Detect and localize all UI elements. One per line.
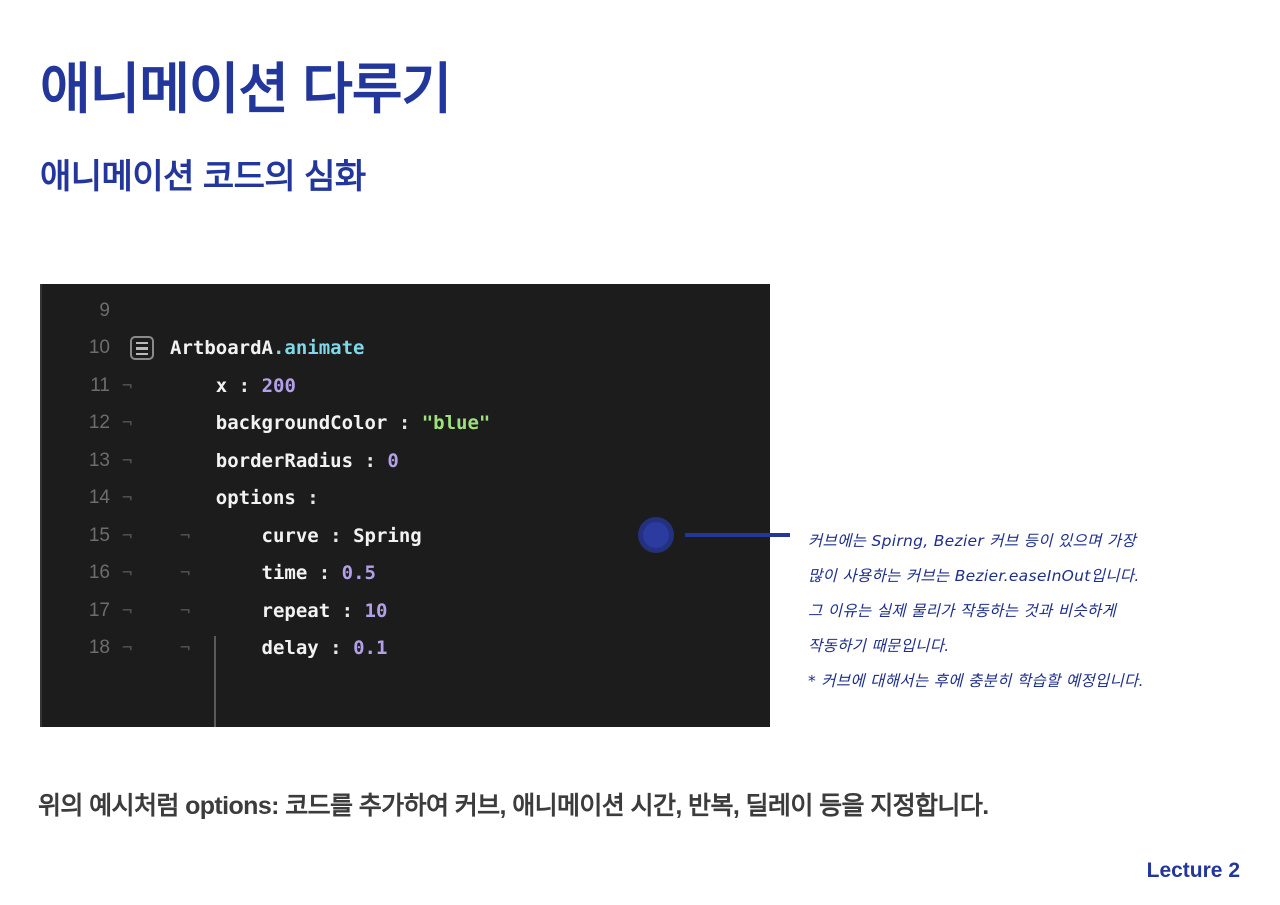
line-number: 10 bbox=[42, 337, 122, 359]
code-token-value: 0.5 bbox=[342, 562, 376, 584]
code-token-key: borderRadius bbox=[216, 450, 353, 472]
code-line: 16 ¬ ¬ time : 0.5 bbox=[42, 555, 770, 593]
indent-guide-icon: ¬ bbox=[122, 451, 132, 471]
code-token-colon: : bbox=[399, 412, 410, 434]
marker-column: ¬ ¬ bbox=[122, 592, 170, 630]
line-number: 11 bbox=[42, 375, 122, 397]
code-token-value: 200 bbox=[262, 375, 296, 397]
line-number: 17 bbox=[42, 600, 122, 622]
indent-guide-icon: ¬ bbox=[122, 601, 132, 621]
indent-guide-icon: ¬ bbox=[122, 376, 132, 396]
code-line-content: time : 0.5 bbox=[170, 562, 376, 584]
code-token-colon: : bbox=[239, 375, 250, 397]
code-line-content: repeat : 10 bbox=[170, 600, 387, 622]
code-line-content: curve : Spring bbox=[170, 525, 422, 547]
callout-anchor-dot[interactable] bbox=[638, 517, 674, 553]
code-token-key: backgroundColor bbox=[216, 412, 388, 434]
code-token-value: 0 bbox=[387, 450, 398, 472]
annotation-line: 작동하기 때문입니다. bbox=[808, 629, 1248, 664]
code-editor-panel: 9 10 ArtboardA.animate 11 ¬ bbox=[40, 284, 770, 727]
code-line: 9 bbox=[42, 292, 770, 330]
code-line-content: borderRadius : 0 bbox=[170, 450, 399, 472]
annotation-line: 그 이유는 실제 물리가 작동하는 것과 비슷하게 bbox=[808, 594, 1248, 629]
code-line: 11 ¬ x : 200 bbox=[42, 367, 770, 405]
page-title: 애니메이션 다루기 bbox=[40, 62, 451, 117]
code-token-method: animate bbox=[284, 337, 364, 359]
marker-column: ¬ ¬ bbox=[122, 555, 170, 593]
code-block-guide-line bbox=[214, 636, 216, 727]
code-lines: 9 10 ArtboardA.animate 11 ¬ bbox=[42, 284, 770, 667]
code-token-colon: : bbox=[307, 487, 318, 509]
annotation-line: * 커브에 대해서는 후에 충분히 학습할 예정입니다. bbox=[808, 664, 1248, 699]
code-line: 18 ¬ ¬ delay : 0.1 bbox=[42, 630, 770, 668]
indent-guide-icon: ¬ bbox=[122, 526, 132, 546]
marker-column bbox=[122, 292, 170, 330]
code-token-key: time bbox=[262, 562, 308, 584]
code-line: 12 ¬ backgroundColor : "blue" bbox=[42, 405, 770, 443]
code-block-marker-icon[interactable] bbox=[130, 336, 154, 360]
marker-column: ¬ bbox=[122, 442, 170, 480]
code-line: 13 ¬ borderRadius : 0 bbox=[42, 442, 770, 480]
line-number: 13 bbox=[42, 450, 122, 472]
annotation-line: 많이 사용하는 커브는 Bezier.easeInOut입니다. bbox=[808, 559, 1248, 594]
code-line-content: options : bbox=[170, 487, 319, 509]
code-token-colon: : bbox=[330, 525, 341, 547]
line-number: 15 bbox=[42, 525, 122, 547]
marker-column: ¬ ¬ bbox=[122, 630, 170, 668]
line-number: 18 bbox=[42, 637, 122, 659]
code-token-object: ArtboardA bbox=[170, 337, 273, 359]
code-token-colon: : bbox=[330, 637, 341, 659]
marker-column bbox=[122, 330, 170, 368]
marker-column: ¬ bbox=[122, 405, 170, 443]
line-number: 14 bbox=[42, 487, 122, 509]
code-line-content: backgroundColor : "blue" bbox=[170, 412, 490, 434]
code-token-value: Spring bbox=[353, 525, 422, 547]
code-line: 14 ¬ options : bbox=[42, 480, 770, 518]
code-line-content: ArtboardA.animate bbox=[170, 337, 364, 359]
code-line: 17 ¬ ¬ repeat : 10 bbox=[42, 592, 770, 630]
code-line-content: x : 200 bbox=[170, 375, 296, 397]
line-number: 16 bbox=[42, 562, 122, 584]
indent-guide-icon: ¬ bbox=[122, 413, 132, 433]
marker-column: ¬ bbox=[122, 480, 170, 518]
page-subtitle: 애니메이션 코드의 심화 bbox=[40, 160, 366, 194]
line-number: 12 bbox=[42, 412, 122, 434]
annotation-line: 커브에는 Spirng, Bezier 커브 등이 있으며 가장 bbox=[808, 524, 1248, 559]
code-token-key: x bbox=[216, 375, 227, 397]
indent-guide-icon: ¬ bbox=[122, 563, 132, 583]
code-token-colon: : bbox=[342, 600, 353, 622]
code-token-value: 10 bbox=[365, 600, 388, 622]
code-line: 10 ArtboardA.animate bbox=[42, 330, 770, 368]
code-token-value: "blue" bbox=[422, 412, 491, 434]
code-token-colon: : bbox=[319, 562, 330, 584]
slide-canvas: 애니메이션 다루기 애니메이션 코드의 심화 9 10 ArtboardA.an… bbox=[0, 0, 1280, 905]
marker-column: ¬ bbox=[122, 367, 170, 405]
slide-footer-label: Lecture 2 bbox=[1147, 859, 1240, 883]
indent-guide-icon: ¬ bbox=[122, 638, 132, 658]
code-token-key: options bbox=[216, 487, 296, 509]
code-line-content: delay : 0.1 bbox=[170, 637, 387, 659]
marker-column: ¬ ¬ bbox=[122, 517, 170, 555]
code-token-key: repeat bbox=[262, 600, 331, 622]
code-token-dot: . bbox=[273, 337, 284, 359]
body-caption: 위의 예시처럼 options: 코드를 추가하여 커브, 애니메이션 시간, … bbox=[38, 786, 989, 822]
callout-annotation: 커브에는 Spirng, Bezier 커브 등이 있으며 가장 많이 사용하는… bbox=[808, 524, 1248, 699]
line-number: 9 bbox=[42, 300, 122, 322]
indent-guide-icon: ¬ bbox=[122, 488, 132, 508]
code-token-key: delay bbox=[262, 637, 319, 659]
code-token-value: 0.1 bbox=[353, 637, 387, 659]
code-token-key: curve bbox=[262, 525, 319, 547]
code-token-colon: : bbox=[365, 450, 376, 472]
callout-leader-line bbox=[685, 533, 790, 537]
